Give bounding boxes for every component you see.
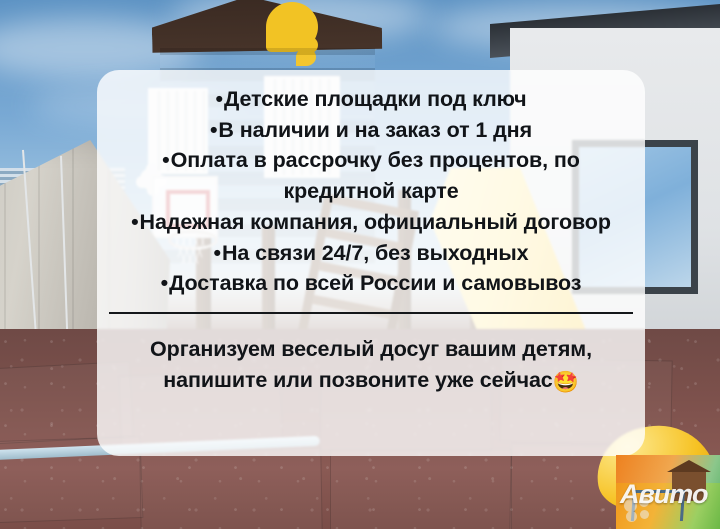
- list-item: На связи 24/7, без выходных: [107, 238, 635, 269]
- sun-decoration-icon: [266, 2, 318, 52]
- cta-label: Организуем веселый досуг вашим детям, на…: [150, 337, 592, 392]
- avito-logo-text: Авито: [620, 481, 707, 508]
- list-item: Детские площадки под ключ: [107, 84, 635, 115]
- avito-watermark: Авито: [616, 455, 720, 529]
- paving-stone: [139, 447, 322, 529]
- offer-text-panel: Детские площадки под ключ В наличии и на…: [97, 70, 645, 456]
- list-item: Надежная компания, официальный договор: [107, 207, 635, 238]
- list-item: Доставка по всей России и самовывоз: [107, 268, 635, 299]
- star-struck-emoji-icon: 🤩: [553, 371, 579, 394]
- benefits-list: Детские площадки под ключ В наличии и на…: [107, 84, 635, 299]
- paving-stone: [330, 449, 512, 529]
- list-item: В наличии и на заказ от 1 дня: [107, 115, 635, 146]
- advertisement-image: Детские площадки под ключ В наличии и на…: [0, 0, 720, 529]
- list-item: Оплата в рассрочку без процентов, по кре…: [107, 145, 635, 206]
- call-to-action-text: Организуем веселый досуг вашим детям, на…: [107, 314, 635, 399]
- watermark-dot: [640, 510, 649, 519]
- watermark-dot: [626, 511, 637, 522]
